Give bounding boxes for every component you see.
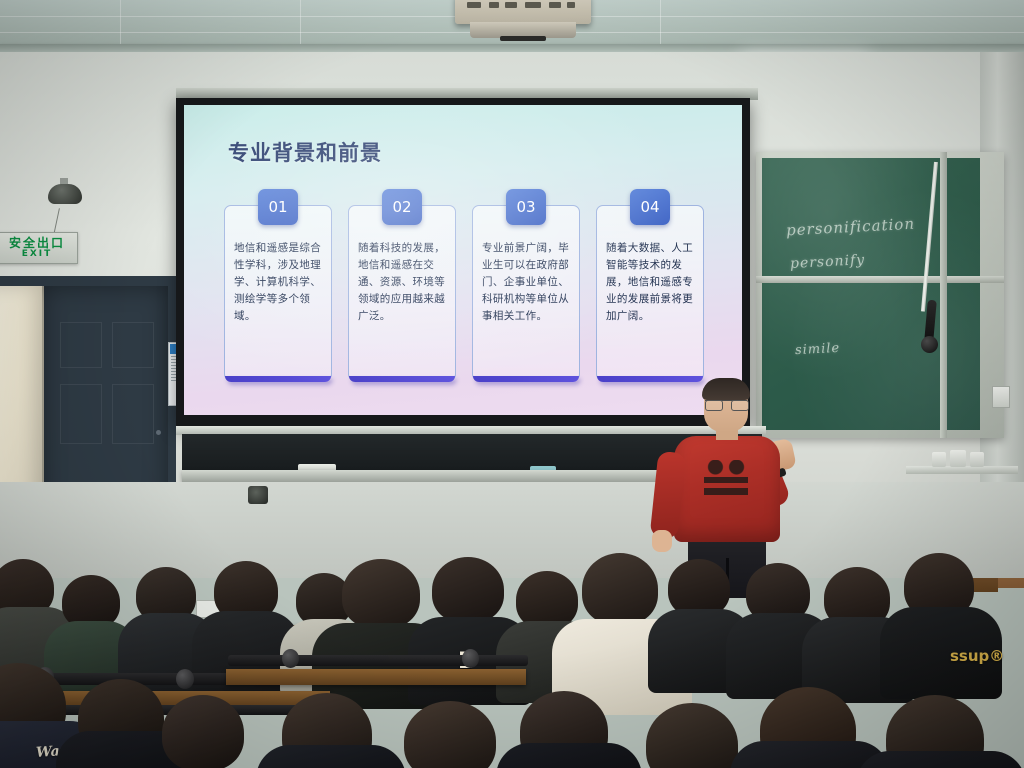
card-badge-01: 01: [258, 189, 298, 225]
student-torso-front: [856, 751, 1024, 768]
student-head: [342, 559, 420, 629]
exit-sign-label-cn: 安全出口: [9, 237, 65, 249]
blackboard-vertical-rail: [940, 152, 947, 438]
exit-sign: 安全出口 EXIT: [0, 232, 78, 264]
slide-card-04: 04 随着大数据、人工智能等技术的发展，地信和遥感专业的发展前景将更加广阔。: [596, 205, 704, 381]
card-badge-04: 04: [630, 189, 670, 225]
card-accent-bar: [349, 376, 455, 382]
card-badge-02: 02: [382, 189, 422, 225]
wall-shelf: [906, 466, 1018, 474]
door-handle[interactable]: [156, 430, 161, 435]
slide-card-01: 01 地信和遥感是综合性学科，涉及地理学、计算机科学、测绘学等多个领域。: [224, 205, 332, 381]
speaker-icon: [248, 486, 268, 504]
audience: E ssup® Wanted: [0, 545, 1024, 768]
slide-title: 专业背景和前景: [228, 137, 382, 167]
card-text-01: 地信和遥感是综合性学科，涉及地理学、计算机科学、测绘学等多个领域。: [234, 240, 324, 325]
apparel-text-block: ssup®: [950, 647, 1004, 665]
wall-socket-icon[interactable]: [992, 386, 1010, 408]
chalk-text-simile: simile: [795, 341, 841, 358]
bench-knob: [282, 649, 299, 668]
presenter-hair: [702, 378, 750, 400]
classroom-photo-scene: 安全出口 EXIT personification personify simi…: [0, 0, 1024, 768]
slide-card-row: 01 地信和遥感是综合性学科，涉及地理学、计算机科学、测绘学等多个领域。 02 …: [224, 205, 704, 381]
shelf-jar: [970, 452, 984, 467]
card-accent-bar: [225, 376, 331, 382]
card-badge-03: 03: [506, 189, 546, 225]
card-text-03: 专业前景广阔，毕业生可以在政府部门、企事业单位、科研机构等单位从事相关工作。: [482, 240, 572, 325]
slide-card-03: 03 专业前景广阔，毕业生可以在政府部门、企事业单位、科研机构等单位从事相关工作…: [472, 205, 580, 381]
card-text-04: 随着大数据、人工智能等技术的发展，地信和遥感专业的发展前景将更加广阔。: [606, 240, 696, 325]
projector-lens-icon: [500, 36, 546, 41]
projection-screen: 专业背景和前景 01 地信和遥感是综合性学科，涉及地理学、计算机科学、测绘学等多…: [184, 105, 742, 415]
dome-camera-icon: [48, 184, 82, 204]
card-text-02: 随着科技的发展，地信和遥感在交通、资源、环境等领域的应用越来越广泛。: [358, 240, 448, 325]
presenter-sweater-graphic: [704, 460, 748, 510]
student-head: [582, 553, 658, 625]
bench-rail: [228, 655, 528, 666]
student-head: [432, 557, 504, 623]
projector-icon: [455, 0, 591, 24]
student-torso-front: [496, 743, 642, 768]
bench-knob: [176, 669, 194, 689]
card-accent-bar: [473, 376, 579, 382]
blackboard-divider: [756, 276, 1004, 283]
bench-seat: [226, 669, 526, 685]
exit-sign-label-en: EXIT: [22, 249, 53, 259]
student-torso-front: [256, 745, 406, 768]
pointer-knob: [921, 336, 938, 353]
bench-knob: [462, 649, 479, 668]
glasses-icon: [705, 400, 747, 410]
slide-card-02: 02 随着科技的发展，地信和遥感在交通、资源、环境等领域的应用越来越广泛。: [348, 205, 456, 381]
student-head-front: [162, 695, 244, 768]
shelf-jar: [950, 450, 966, 467]
student-head-front: [404, 701, 496, 768]
shelf-jar: [932, 452, 946, 467]
